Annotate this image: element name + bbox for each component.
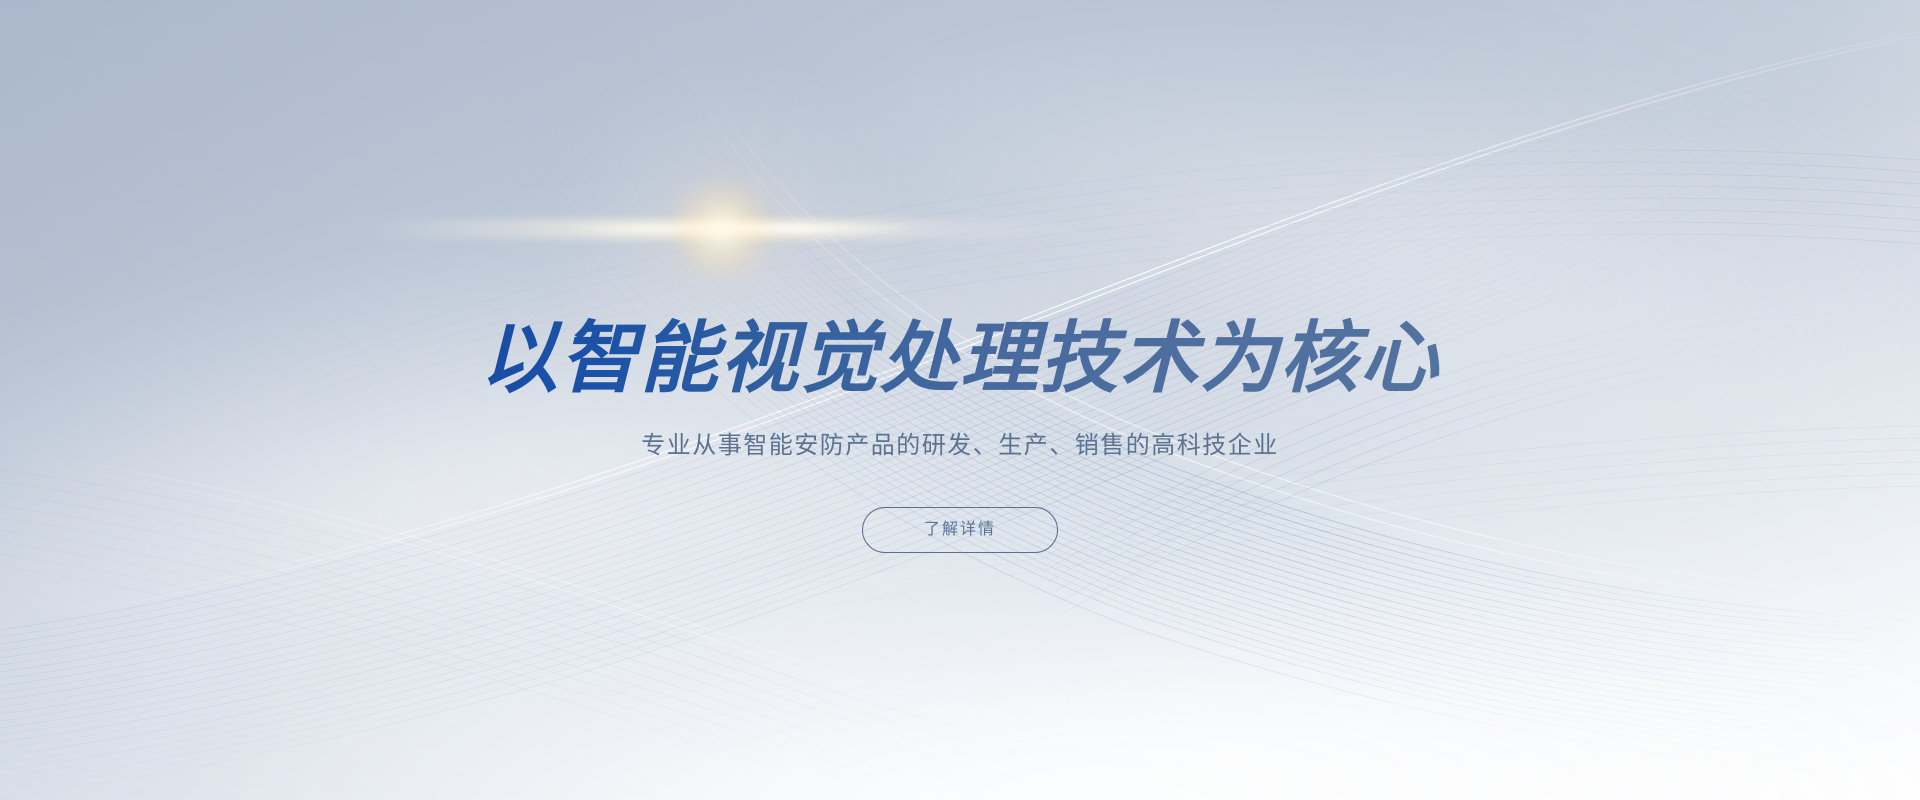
cta-container: 了解详情 (0, 507, 1920, 553)
hero-banner: 以智能视觉处理技术为核心 专业从事智能安防产品的研发、生产、销售的高科技企业 了… (0, 0, 1920, 800)
learn-more-button[interactable]: 了解详情 (862, 507, 1058, 553)
hero-content: 以智能视觉处理技术为核心 专业从事智能安防产品的研发、生产、销售的高科技企业 了… (0, 0, 1920, 800)
hero-subtitle: 专业从事智能安防产品的研发、生产、销售的高科技企业 (0, 426, 1920, 466)
page-title: 以智能视觉处理技术为核心 (0, 310, 1920, 406)
